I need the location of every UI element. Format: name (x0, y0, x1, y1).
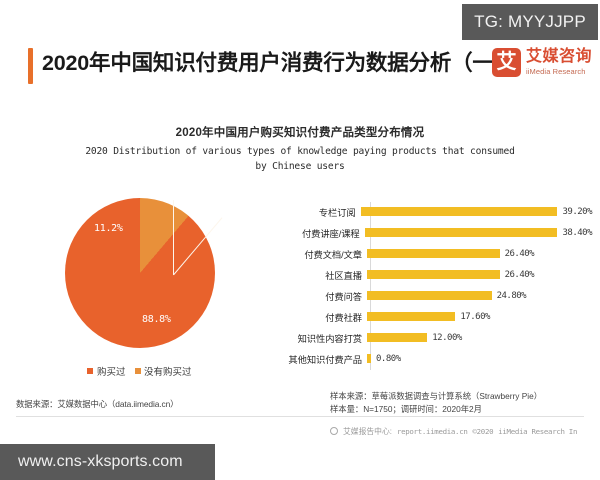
tg-watermark-text: TG: MYYJJPP (474, 12, 586, 32)
bar-fill (367, 354, 371, 363)
bar-row[interactable]: 付费文档/文章26.40% (262, 243, 592, 264)
bar-value-label: 0.80% (376, 354, 401, 364)
logo-text: 艾媒咨询 iiMedia Research (526, 49, 592, 76)
iimedia-logo: 艾 艾媒咨询 iiMedia Research (492, 48, 592, 77)
bar-category-label: 付费文档/文章 (262, 247, 366, 261)
pie-slice-divider (173, 217, 223, 275)
footer-brand: iiMedia Research In (498, 427, 577, 436)
slide-canvas: TG: MYYJJPP 2020年中国知识付费用户消费行为数据分析（一） 艾 艾… (0, 0, 600, 480)
footer-bar: 艾媒报告中心: report.iimedia.cn ©2020 iiMedia … (330, 422, 600, 440)
bar-value-label: 26.40% (505, 270, 535, 280)
chart-title-en: 2020 Distribution of various types of kn… (0, 145, 600, 175)
bar-category-label: 社区直播 (262, 268, 366, 282)
bar-row[interactable]: 付费问答24.80% (262, 285, 592, 306)
source-note-left: 数据来源：艾媒数据中心（data.iimedia.cn） (16, 398, 178, 410)
chart-title-block: 2020年中国用户购买知识付费产品类型分布情况 2020 Distributio… (0, 124, 600, 175)
logo-mark-icon: 艾 (492, 48, 521, 77)
legend-label: 购买过 (97, 364, 126, 378)
legend-label: 没有购买过 (144, 364, 192, 378)
bar-fill (367, 333, 427, 342)
bar-row[interactable]: 付费社群17.60% (262, 306, 592, 327)
tg-watermark-badge: TG: MYYJJPP (462, 4, 598, 40)
bar-category-label: 付费讲座/课程 (262, 226, 364, 240)
bar-track: 0.80% (366, 348, 592, 369)
bar-track: 26.40% (366, 243, 592, 264)
page-title: 2020年中国知识付费用户消费行为数据分析（一） (42, 46, 515, 77)
logo-name-en: iiMedia Research (526, 68, 592, 76)
bar-fill (361, 207, 558, 216)
bar-track: 26.40% (366, 264, 592, 285)
bar-track: 38.40% (364, 222, 592, 243)
bar-value-label: 24.80% (497, 291, 527, 301)
bar-category-label: 付费问答 (262, 289, 366, 303)
bar-fill (367, 270, 500, 279)
bar-category-label: 专栏订阅 (262, 205, 360, 219)
chart-title-en-line1: 2020 Distribution of various types of kn… (0, 145, 600, 160)
bar-value-label: 26.40% (505, 249, 535, 259)
bar-category-label: 付费社群 (262, 310, 366, 324)
bar-track: 17.60% (366, 306, 592, 327)
bar-value-label: 38.40% (562, 228, 592, 238)
chart-title-cn: 2020年中国用户购买知识付费产品类型分布情况 (0, 124, 600, 140)
sample-source-line: 样本来源：草莓派数据调查与计算系统（Strawberry Pie） (330, 390, 542, 403)
footer-url[interactable]: report.iimedia.cn (397, 427, 468, 436)
bar-value-label: 12.00% (432, 333, 462, 343)
bar-row[interactable]: 知识性内容打赏12.00% (262, 327, 592, 348)
pie-legend: 购买过 没有购买过 (32, 364, 247, 378)
bar-row[interactable]: 专栏订阅39.20% (262, 201, 592, 222)
logo-name-cn: 艾媒咨询 (526, 49, 592, 65)
slide-header: 2020年中国知识付费用户消费行为数据分析（一） 艾 艾媒咨询 iiMedia … (0, 44, 600, 96)
legend-item-not-purchased[interactable]: 没有购买过 (135, 364, 192, 378)
bar-category-label: 其他知识付费产品 (262, 352, 366, 366)
legend-item-purchased[interactable]: 购买过 (87, 364, 125, 378)
footer-divider (16, 416, 584, 417)
pie-chart: 11.2% 88.8% 购买过 没有购买过 (32, 196, 247, 392)
bar-fill (365, 228, 558, 237)
bar-track: 12.00% (366, 327, 592, 348)
legend-swatch-icon (87, 368, 93, 374)
bar-chart: 专栏订阅39.20%付费讲座/课程38.40%付费文档/文章26.40%社区直播… (262, 200, 592, 380)
pie-graphic (65, 198, 215, 348)
legend-swatch-icon (135, 368, 141, 374)
footer-copyright: ©2020 (473, 427, 494, 436)
globe-icon (330, 427, 338, 435)
sample-size-line: 样本量：N=1750；调研时间：2020年2月 (330, 403, 542, 416)
pie-slice-label-small: 11.2% (94, 223, 123, 234)
source-note-right: 样本来源：草莓派数据调查与计算系统（Strawberry Pie） 样本量：N=… (330, 390, 542, 416)
bar-row[interactable]: 其他知识付费产品0.80% (262, 348, 592, 369)
bar-value-label: 17.60% (460, 312, 490, 322)
bar-fill (367, 249, 500, 258)
pie-slice-label-large: 88.8% (142, 314, 171, 325)
title-accent-bar (28, 48, 33, 84)
bar-track: 39.20% (360, 201, 592, 222)
bar-category-label: 知识性内容打赏 (262, 331, 366, 345)
chart-title-en-line2: by Chinese users (0, 160, 600, 175)
site-watermark-text: www.cns-xksports.com (18, 453, 183, 471)
bar-row[interactable]: 付费讲座/课程38.40% (262, 222, 592, 243)
bar-track: 24.80% (366, 285, 592, 306)
bar-fill (367, 312, 455, 321)
footer-label-cn: 艾媒报告中心: (343, 426, 392, 437)
bar-row[interactable]: 社区直播26.40% (262, 264, 592, 285)
bar-fill (367, 291, 492, 300)
bar-value-label: 39.20% (562, 207, 592, 217)
site-watermark-badge: www.cns-xksports.com (0, 444, 215, 480)
pie-slice-divider (173, 200, 174, 275)
